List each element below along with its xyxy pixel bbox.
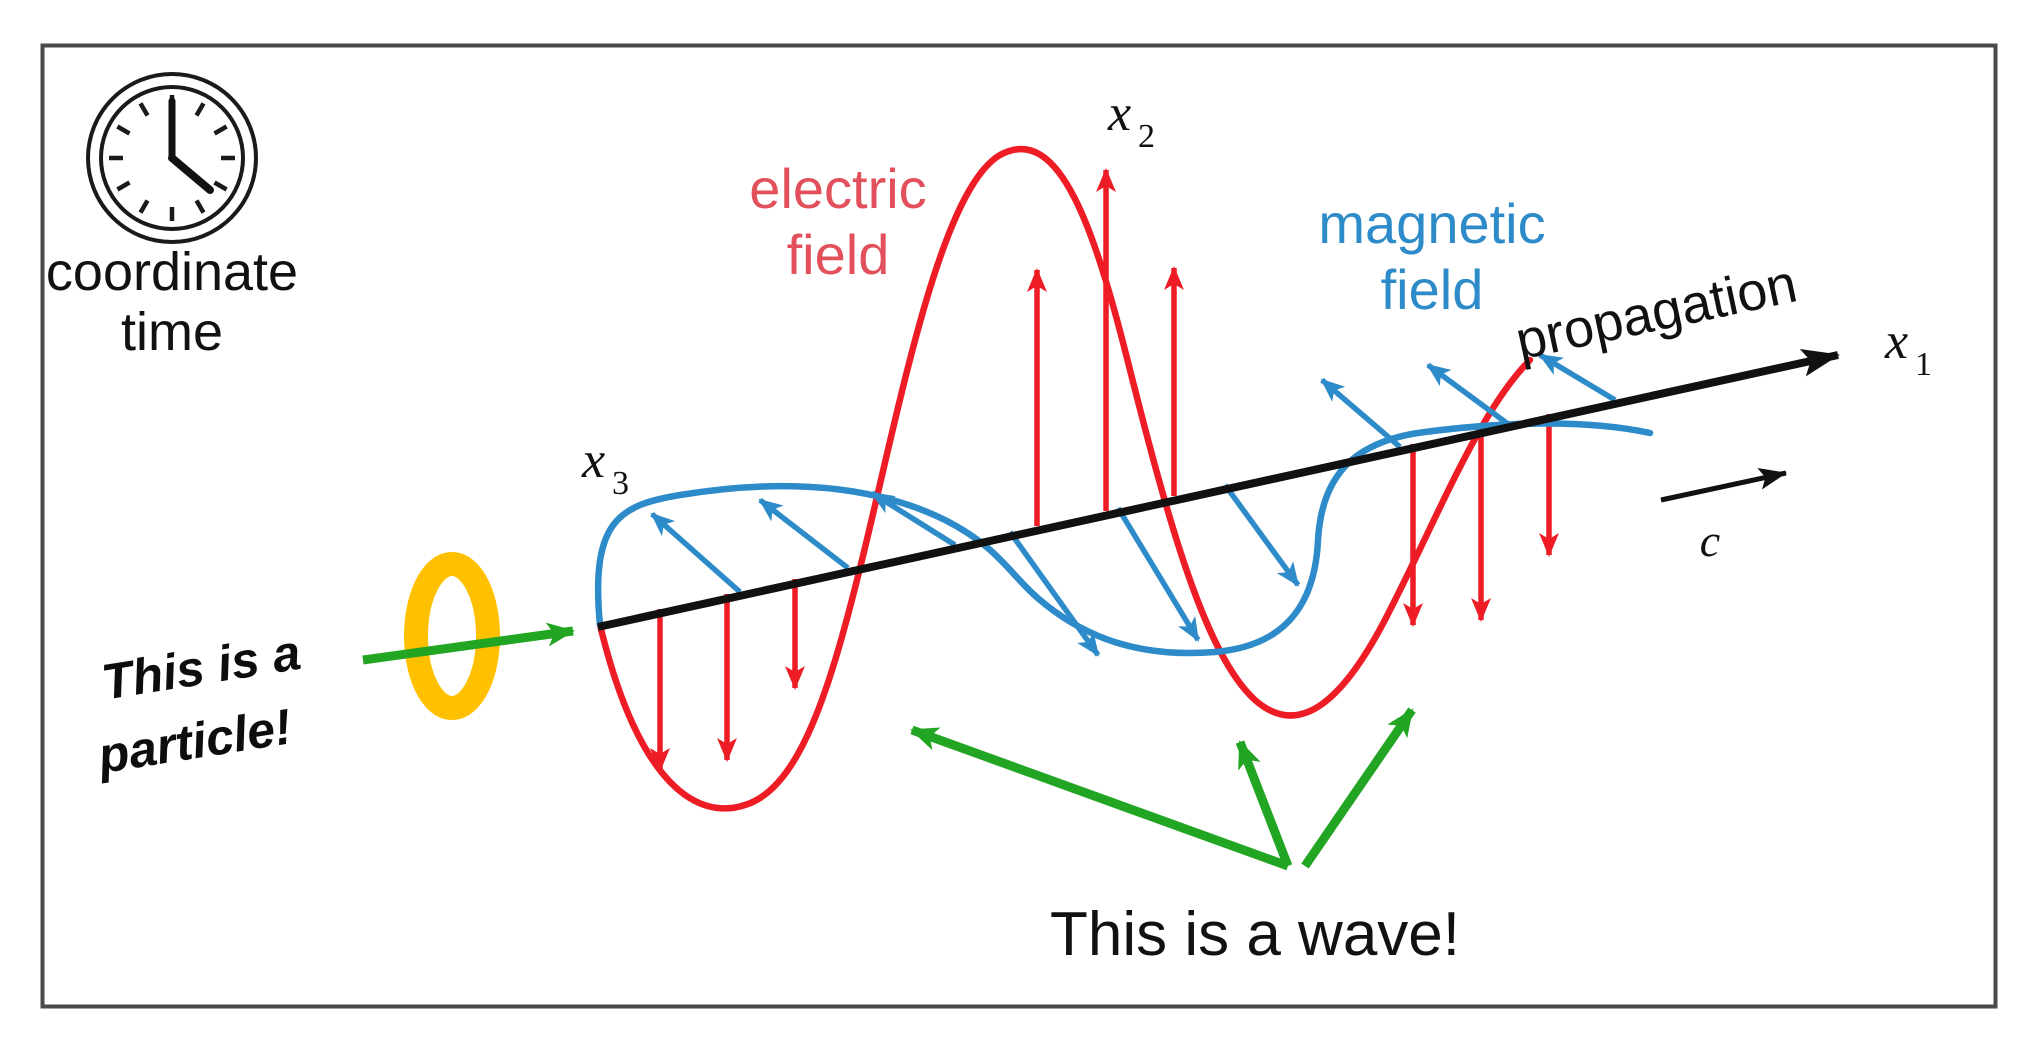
electric-field-label-line2: field	[787, 223, 890, 286]
axis-label-x1-sub: 1	[1915, 346, 1932, 383]
wave-caption: This is a wave!	[1050, 900, 1460, 969]
magnetic-field-label-line2: field	[1381, 258, 1484, 321]
axis-label-x3-sub: 3	[612, 465, 629, 502]
axis-label-x2-name: x	[1107, 85, 1131, 142]
em-wave-diagram: coordinate time This is a particle!	[0, 0, 2025, 1063]
clock-caption-line2: time	[121, 302, 223, 362]
clock-icon	[88, 74, 256, 242]
axis-label-x2-sub: 2	[1138, 118, 1155, 155]
clock-caption-line1: coordinate	[46, 242, 298, 302]
electric-field-label-line1: electric	[749, 157, 926, 220]
axis-label-x3-name: x	[581, 432, 605, 489]
figure-root: coordinate time This is a particle!	[0, 0, 2025, 1063]
magnetic-field-label-line1: magnetic	[1318, 192, 1545, 255]
speed-of-light-label: c	[1700, 515, 1720, 566]
axis-label-x1-name: x	[1884, 313, 1908, 370]
